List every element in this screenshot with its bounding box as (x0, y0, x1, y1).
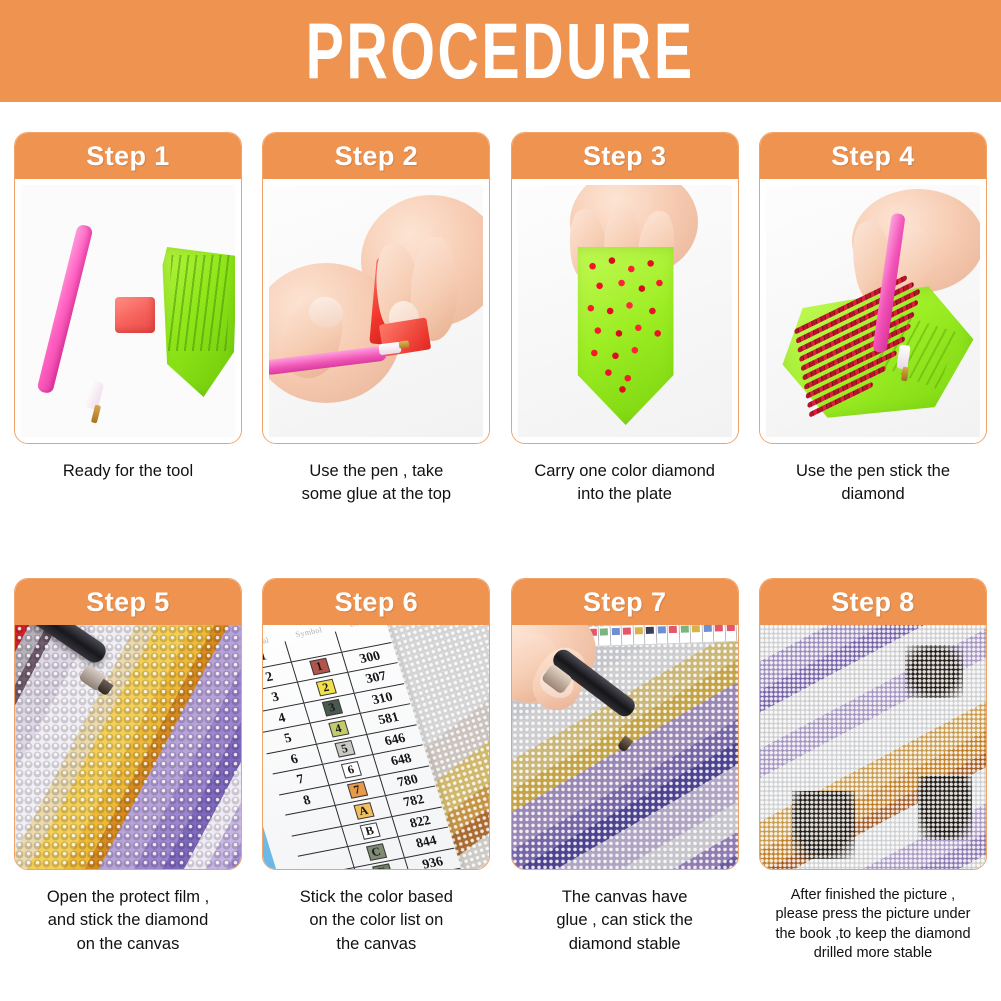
step-6-header: Step 6 (263, 579, 489, 625)
caption-line: some glue at the top (302, 485, 452, 503)
symbol-swatch: A (353, 802, 374, 820)
bead-texture-icon (15, 625, 241, 869)
step-1-body (15, 179, 241, 443)
step-8-card: Step 8 (759, 578, 987, 870)
symbol-swatch: 3 (322, 699, 343, 717)
caption-line: on the canvas (77, 935, 180, 953)
step-4-caption: Use the pen stick thediamond (755, 460, 991, 507)
step-7-body (512, 625, 738, 869)
step-5-body (15, 625, 241, 869)
caption-line: the book ,to keep the diamond (775, 926, 970, 942)
caption-line: Use the pen stick the (796, 462, 950, 480)
caption-line: After finished the picture , (791, 887, 955, 903)
step-5-caption: Open the protect film ,and stick the dia… (10, 886, 246, 956)
step-3-photo (518, 185, 732, 437)
step-1-card: Step 1 (14, 132, 242, 444)
step-2-caption: Use the pen , takesome glue at the top (258, 460, 494, 507)
step-2-photo (269, 185, 483, 437)
tray-grooves-icon (166, 255, 231, 351)
step-7-header: Step 7 (512, 579, 738, 625)
page-title: PROCEDURE (306, 12, 695, 90)
step-3-header: Step 3 (512, 133, 738, 179)
glue-square-icon (115, 297, 155, 333)
caption-line: diamond (841, 485, 904, 503)
caption-line: the canvas (336, 935, 416, 953)
step-7-caption: The canvas haveglue , can stick thediamo… (507, 886, 743, 956)
step-card-4: Step 4 (759, 132, 987, 507)
step-4-card: Step 4 (759, 132, 987, 444)
step-card-1: Step 1 Ready for the tool (14, 132, 242, 507)
bead-texture-icon (760, 625, 986, 869)
symbol-swatch: F (372, 864, 393, 869)
step-1-header: Step 1 (15, 133, 241, 179)
caption-line: Ready for the tool (63, 462, 193, 480)
step-7-card: Step 7 (511, 578, 739, 870)
step-5-photo (15, 625, 241, 869)
steps-row-2: Step 5 Open the protect film ,and stick … (0, 578, 1001, 964)
symbol-swatch: B (359, 823, 380, 841)
step-3-card: Step 3 (511, 132, 739, 444)
step-5-header: Step 5 (15, 579, 241, 625)
caption-line: Open the protect film , (47, 888, 209, 906)
symbol-swatch: 5 (334, 740, 355, 758)
red-diamonds-icon (582, 255, 670, 395)
symbol-swatch: 4 (328, 720, 349, 738)
caption-line: drilled more stable (814, 945, 932, 961)
step-6-caption: Stick the color basedon the color list o… (258, 886, 494, 956)
procedure-infographic: PROCEDURE Step 1 Ready for the to (0, 0, 1001, 1001)
step-6-body: Serial Symbol DMC 1213003230743310545816… (263, 625, 489, 869)
symbol-swatch: 7 (347, 781, 368, 799)
step-8-photo (760, 625, 986, 869)
symbol-swatch: 6 (341, 761, 362, 779)
step-4-photo (766, 185, 980, 437)
step-card-6: Step 6 Serial Symbol DMC (262, 578, 490, 964)
step-2-header: Step 2 (263, 133, 489, 179)
caption-line: Carry one color diamond (534, 462, 715, 480)
step-card-2: Step 2 (262, 132, 490, 507)
step-2-card: Step 2 (262, 132, 490, 444)
caption-line: into the plate (577, 485, 672, 503)
step-8-header: Step 8 (760, 579, 986, 625)
step-6-card: Step 6 Serial Symbol DMC (262, 578, 490, 870)
step-5-card: Step 5 (14, 578, 242, 870)
step-card-5: Step 5 Open the protect film ,and stick … (14, 578, 242, 964)
caption-line: please press the picture under (775, 906, 970, 922)
step-6-photo: Serial Symbol DMC 1213003230743310545816… (263, 625, 489, 869)
pen-metal-tip-icon (399, 340, 410, 348)
symbol-swatch: 1 (309, 658, 330, 676)
step-7-photo (512, 625, 738, 869)
step-2-body (263, 179, 489, 443)
page-header-band: PROCEDURE (0, 0, 1001, 102)
step-8-body (760, 625, 986, 869)
step-card-3: Step 3 Carry one color diamondinto the p… (511, 132, 739, 507)
step-1-caption: Ready for the tool (10, 460, 246, 483)
step-1-photo (21, 185, 235, 437)
step-3-caption: Carry one color diamondinto the plate (507, 460, 743, 507)
symbol-swatch: 2 (315, 679, 336, 697)
step-3-body (512, 179, 738, 443)
caption-line: on the color list on (309, 911, 443, 929)
step-card-8: Step 8 After finished the picture ,pleas… (759, 578, 987, 964)
caption-line: glue , can stick the (556, 911, 693, 929)
symbol-swatch: C (366, 843, 387, 861)
diamond-pen-icon (36, 224, 93, 395)
step-card-7: Step 7 (511, 578, 739, 964)
step-4-body (760, 179, 986, 443)
caption-line: diamond stable (569, 935, 681, 953)
steps-row-1: Step 1 Ready for the tool Step 2 (0, 132, 1001, 507)
step-4-header: Step 4 (760, 133, 986, 179)
caption-line: The canvas have (562, 888, 688, 906)
caption-line: Use the pen , take (309, 462, 443, 480)
caption-line: and stick the diamond (48, 911, 209, 929)
caption-line: Stick the color based (300, 888, 453, 906)
step-8-caption: After finished the picture ,please press… (755, 886, 991, 964)
